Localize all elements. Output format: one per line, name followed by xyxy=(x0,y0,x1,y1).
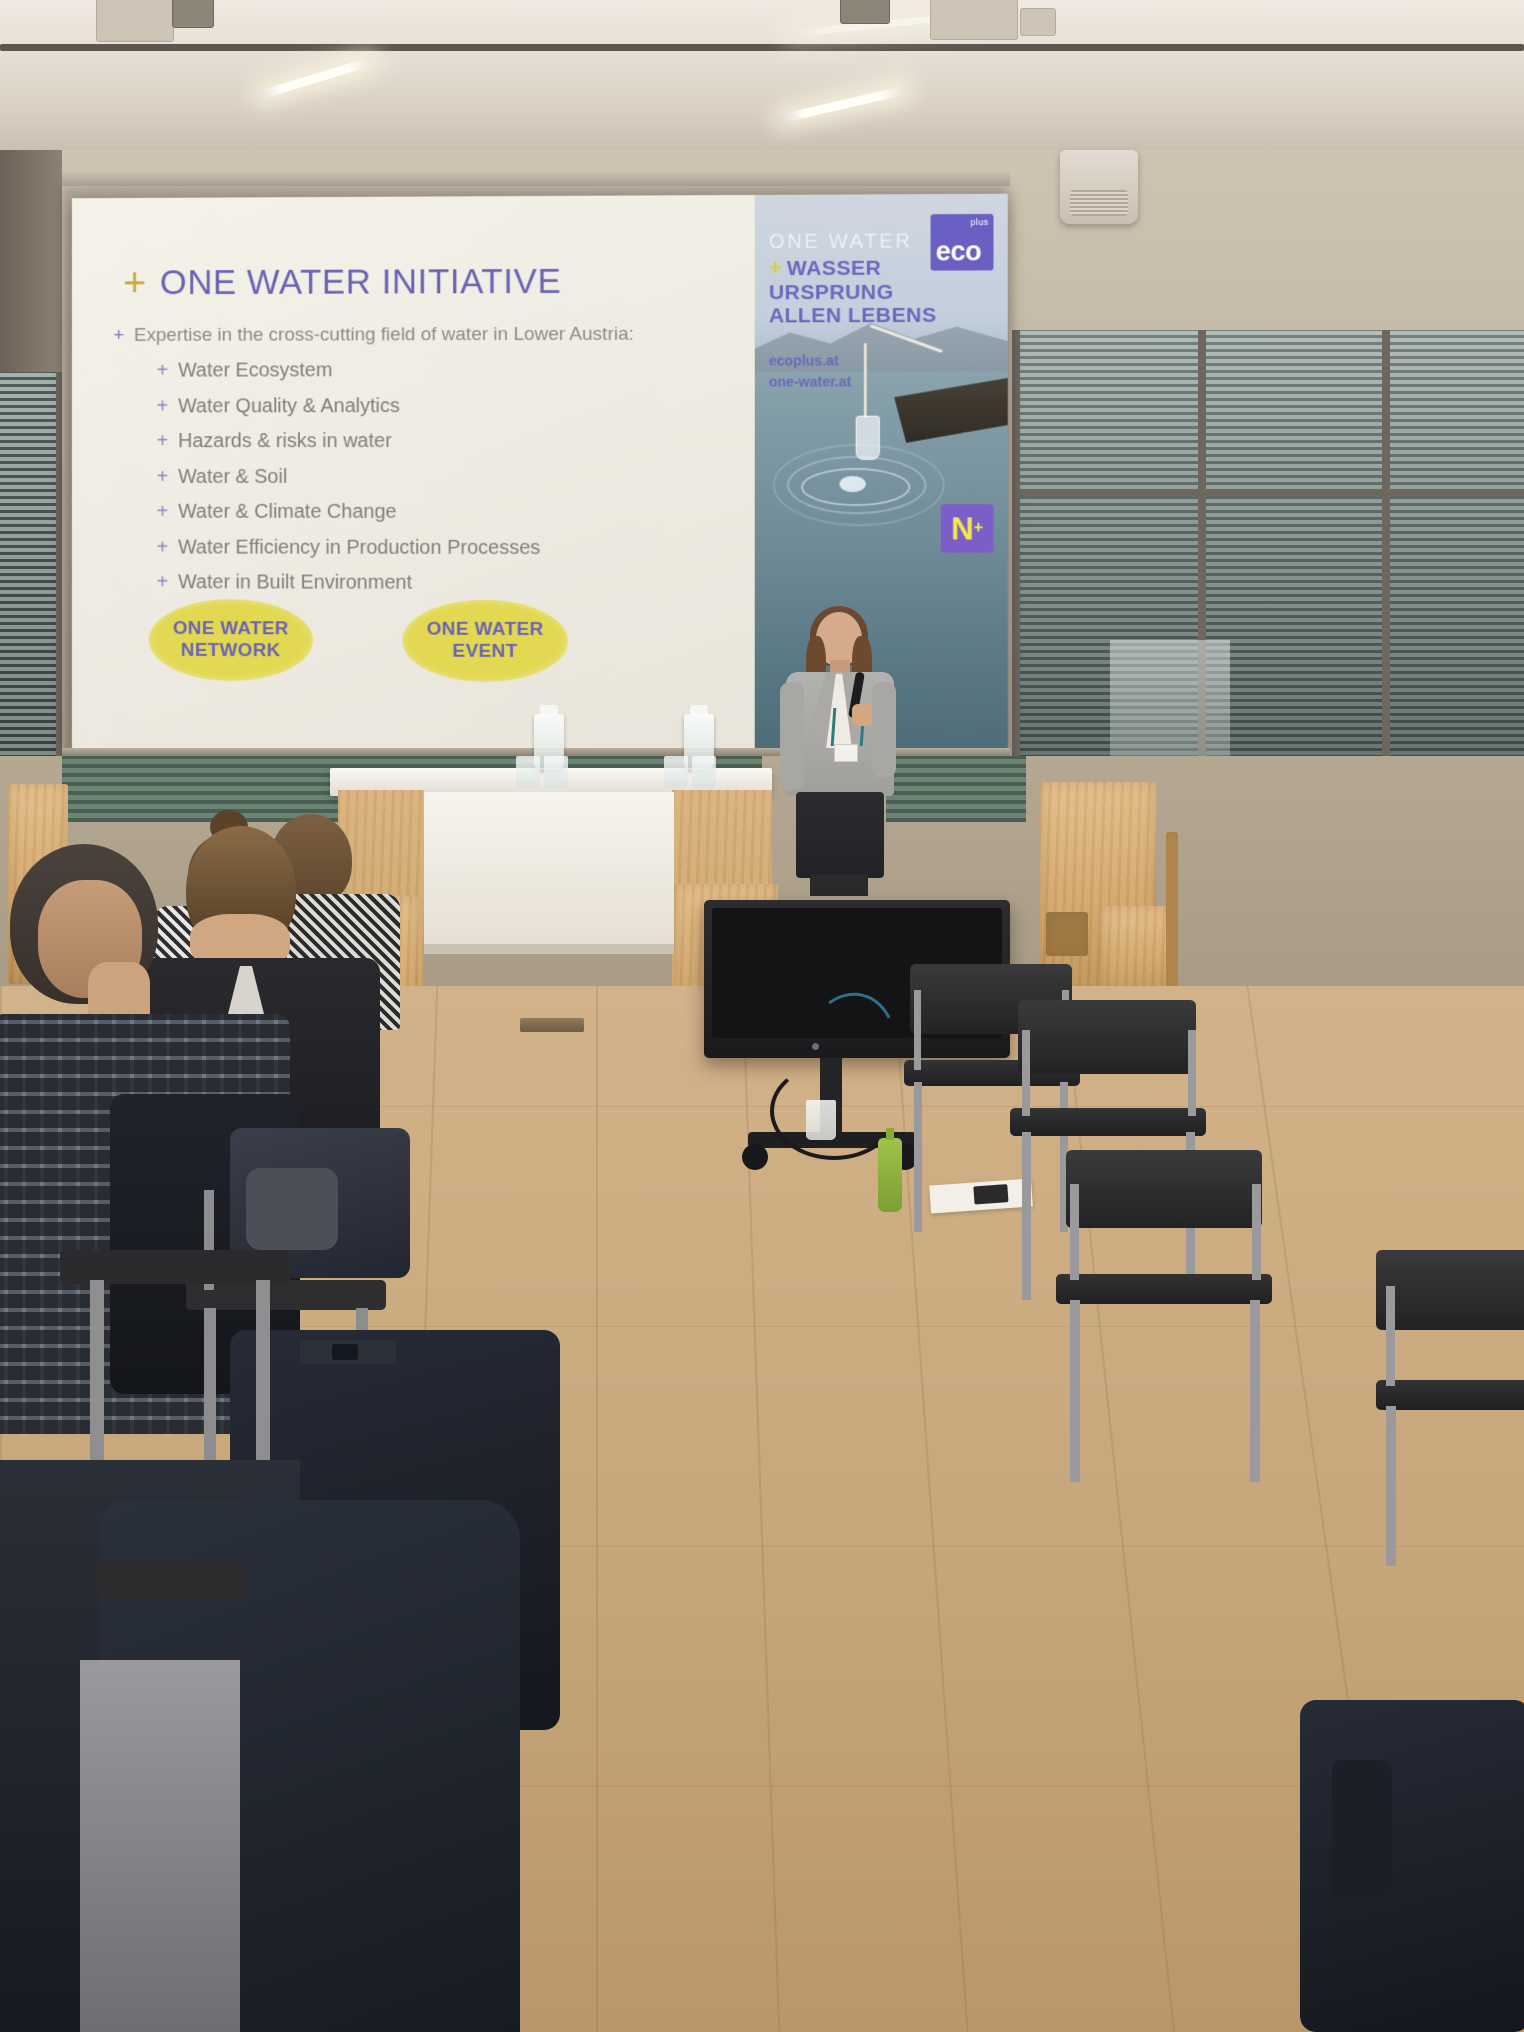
window-right xyxy=(1012,330,1524,800)
callout-line-2: EVENT xyxy=(452,641,517,664)
water-glass xyxy=(516,756,540,788)
page-title: + ONE WATER INITIATIVE xyxy=(123,262,561,303)
backpack-strap xyxy=(1332,1760,1392,1900)
chair xyxy=(1056,1150,1276,1490)
ceiling xyxy=(0,0,1524,152)
callout-one-water-network: ONE WATER NETWORK xyxy=(149,599,313,681)
list-item-label: Hazards & risks in water xyxy=(178,430,392,453)
plus-icon: + xyxy=(157,431,169,451)
list-item-label: Water & Soil xyxy=(178,466,287,489)
ceiling-panel xyxy=(96,0,174,42)
green-bottle xyxy=(878,1138,902,1212)
name-badge xyxy=(834,744,858,762)
callout-line-1: ONE WATER xyxy=(173,618,289,641)
ceiling-fixture xyxy=(840,0,890,24)
callout-one-water-event: ONE WATER EVENT xyxy=(402,600,568,682)
n-logo-plus: + xyxy=(974,519,983,537)
plus-icon: + xyxy=(157,467,169,487)
n-logo-letter: N xyxy=(951,513,974,544)
callout-line-2: NETWORK xyxy=(181,640,281,663)
ecoplus-logo: plus eco xyxy=(931,214,994,271)
chair xyxy=(1376,1250,1524,1570)
list-item-label: Water Efficiency in Production Processes xyxy=(178,536,540,559)
brand-urls: ecoplus.at one-water.at xyxy=(769,350,937,393)
arm-right xyxy=(872,682,896,778)
podium-edge xyxy=(424,944,674,954)
list-item-label: Water & Climate Change xyxy=(178,501,396,524)
list-item: + Hazards & risks in water xyxy=(157,430,541,453)
ceiling-panel xyxy=(930,0,1018,40)
list-item: + Water Quality & Analytics xyxy=(157,394,541,417)
window-mullion xyxy=(1382,330,1390,800)
list-item: + Water Efficiency in Production Process… xyxy=(157,536,541,559)
callout-line-1: ONE WATER xyxy=(427,618,544,641)
wood-cube-notch xyxy=(1046,912,1088,956)
plus-icon: + xyxy=(157,396,169,416)
plus-icon: + xyxy=(157,361,169,381)
brand-one-water: ONE WATER xyxy=(769,230,937,254)
trolley-caster xyxy=(742,1144,768,1170)
list-item-label: Water Ecosystem xyxy=(178,359,332,382)
arm-left xyxy=(780,682,804,790)
chair-frame-foreground xyxy=(80,1660,240,2032)
legs xyxy=(810,874,868,896)
window-blinds xyxy=(0,372,56,786)
coat-buckle xyxy=(332,1344,358,1360)
list-item-label: Water Quality & Analytics xyxy=(178,395,400,418)
list-item: + Water & Soil xyxy=(157,465,541,488)
window-glare xyxy=(1012,330,1524,800)
lower-austria-n-logo: N + xyxy=(941,504,994,552)
list-item: + Water in Built Environment xyxy=(157,571,541,595)
brand-wasser: WASSER xyxy=(787,257,881,281)
smoke-detector-icon xyxy=(1060,150,1138,224)
brand-wasser-line: + WASSER xyxy=(769,256,937,280)
ecoplus-logo-eco: eco xyxy=(936,238,982,265)
ceiling-slot xyxy=(0,44,1524,51)
link-one-water[interactable]: one-water.at xyxy=(769,371,937,392)
ceiling-fixture xyxy=(172,0,214,28)
projection-screen-housing xyxy=(62,170,1010,186)
list-item-label: Water in Built Environment xyxy=(178,571,412,594)
presenter-speaker xyxy=(780,612,900,896)
window-transom xyxy=(1012,490,1524,496)
window-left xyxy=(0,372,56,786)
wood-cube-side xyxy=(1166,832,1178,1002)
plus-icon: + xyxy=(769,257,782,279)
hand xyxy=(852,704,872,726)
water-glass xyxy=(692,756,716,788)
slide-bullet-list: + Water Ecosystem + Water Quality & Anal… xyxy=(157,359,541,608)
plus-icon: + xyxy=(157,502,169,522)
link-ecoplus[interactable]: ecoplus.at xyxy=(769,350,937,371)
plus-icon: + xyxy=(113,326,124,345)
water-droplet-splash xyxy=(840,476,866,492)
plus-icon: + xyxy=(157,572,169,592)
skirt xyxy=(796,792,884,878)
paper-cup xyxy=(806,1100,836,1140)
brand-ursprung: URSPRUNG xyxy=(769,280,937,304)
slide-content-left: + ONE WATER INITIATIVE + Expertise in th… xyxy=(72,195,755,753)
list-item: + Water Ecosystem xyxy=(157,359,541,383)
sample-bottle xyxy=(856,416,880,460)
water-glass xyxy=(544,756,568,788)
ceiling-light-strip xyxy=(779,85,908,123)
list-item: + Water & Climate Change xyxy=(157,501,541,524)
chair-armrest xyxy=(96,1560,246,1600)
ecoplus-logo-plus: plus xyxy=(970,217,988,227)
plus-icon: + xyxy=(123,263,146,303)
floor-vent xyxy=(520,1018,584,1032)
water-glass xyxy=(664,756,688,788)
brand-allen-lebens: ALLEN LEBENS xyxy=(769,304,937,328)
slide-lead-text: Expertise in the cross-cutting field of … xyxy=(134,324,634,347)
slide-title-text: ONE WATER INITIATIVE xyxy=(160,262,562,303)
wall-grille-right xyxy=(886,756,1026,822)
slide-lead: + Expertise in the cross-cutting field o… xyxy=(113,324,634,347)
ceiling-light-strip xyxy=(257,57,372,100)
plus-icon: + xyxy=(157,537,169,557)
ceiling-panel xyxy=(1020,8,1056,36)
presentation-room-photo: + ONE WATER INITIATIVE + Expertise in th… xyxy=(0,0,1524,2032)
brand-lockup: ONE WATER + WASSER URSPRUNG ALLEN LEBENS… xyxy=(769,230,937,392)
podium-front xyxy=(424,792,674,944)
window-mullion xyxy=(1012,330,1020,800)
slide-callout-group: ONE WATER NETWORK ONE WATER EVENT xyxy=(149,599,568,682)
